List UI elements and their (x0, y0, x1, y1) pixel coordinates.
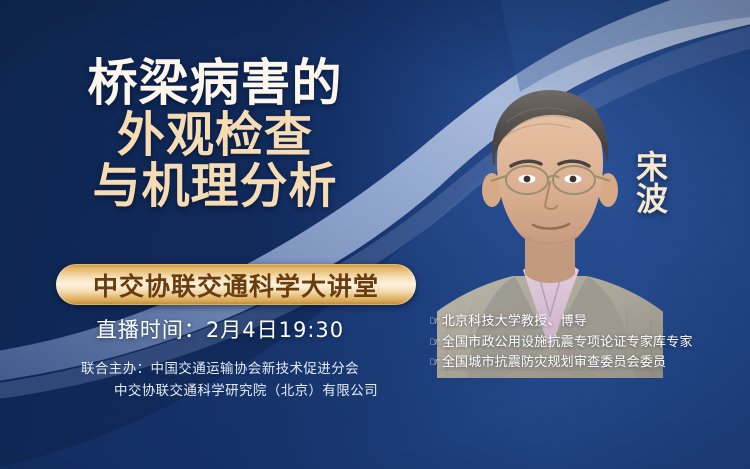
title-line-2: 外观检查 (0, 109, 430, 162)
credential-text: 全国城市抗震防灾规划审查委员会委员 (442, 353, 666, 374)
series-badge: 中交协联交通科学大讲堂 (56, 264, 416, 305)
pointing-hand-icon: ☞ (429, 333, 441, 354)
credential-row: ☞ 全国市政公用设施抗震专项论证专家库专家 (429, 333, 693, 354)
pointing-hand-icon: ☞ (429, 312, 441, 333)
credential-row: ☞ 全国城市抗震防灾规划审查委员会委员 (429, 353, 693, 374)
pointing-hand-icon: ☞ (429, 353, 441, 374)
organizers-block: 联合主办：中国交通运输协会新技术促进分会 中交协联交通科学研究院（北京）有限公司 (0, 358, 440, 403)
credential-text: 全国市政公用设施抗震专项论证专家库专家 (442, 333, 693, 354)
speaker-credentials: ☞ 北京科技大学教授、博导 ☞ 全国市政公用设施抗震专项论证专家库专家 ☞ 全国… (429, 312, 693, 374)
organizer-line-2: 中交协联交通科学研究院（北京）有限公司 (0, 380, 440, 402)
poster-title: 桥梁病害的 外观检查 与机理分析 (0, 56, 430, 213)
broadcast-time: 直播时间：2月4日19:30 (0, 314, 440, 344)
webinar-poster: 桥梁病害的 外观检查 与机理分析 中交协联交通科学大讲堂 直播时间：2月4日19… (0, 0, 750, 469)
title-line-1: 桥梁病害的 (0, 56, 430, 111)
series-badge-label: 中交协联交通科学大讲堂 (93, 267, 379, 303)
organizer-line-1: 联合主办：中国交通运输协会新技术促进分会 (0, 358, 440, 380)
title-line-3: 与机理分析 (0, 160, 430, 213)
left-content-column: 桥梁病害的 外观检查 与机理分析 中交协联交通科学大讲堂 直播时间：2月4日19… (0, 0, 440, 469)
credential-row: ☞ 北京科技大学教授、博导 (429, 312, 693, 333)
speaker-name: 宋波 (630, 150, 669, 214)
credential-text: 北京科技大学教授、博导 (442, 312, 587, 333)
